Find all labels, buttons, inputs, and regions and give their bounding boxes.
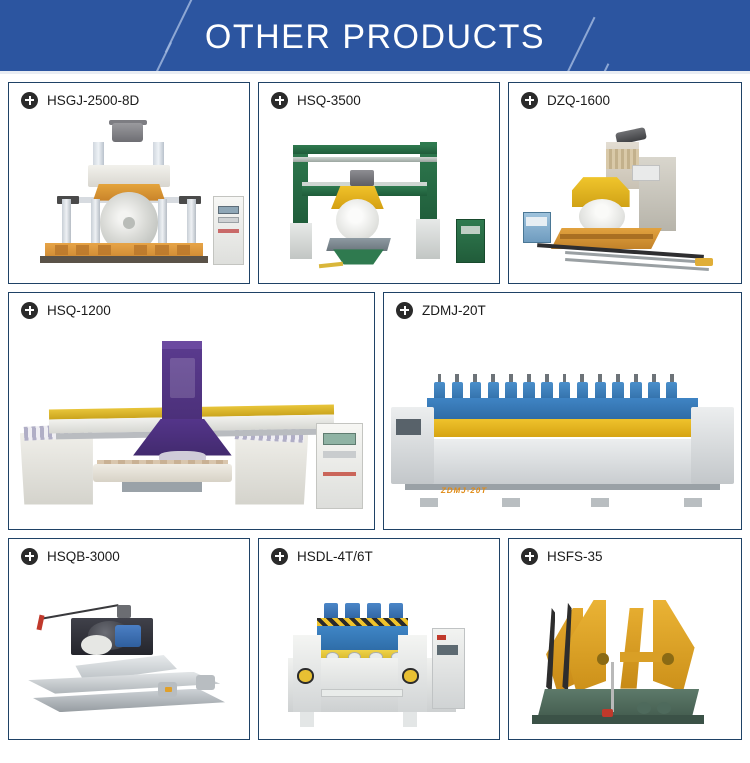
product-image-hsdl-4t-6t [259, 571, 499, 739]
product-card-hsq-3500[interactable]: HSQ-3500 [258, 82, 500, 284]
product-image-hsq-1200 [9, 325, 374, 529]
plus-circle-icon[interactable] [21, 548, 38, 565]
product-image-hsgj-2500-8d [9, 115, 249, 283]
plus-circle-icon[interactable] [21, 92, 38, 109]
product-label: DZQ-1600 [547, 93, 610, 108]
product-card-header: ZDMJ-20T [384, 293, 486, 327]
product-card-hsgj-2500-8d[interactable]: HSGJ-2500-8D [8, 82, 250, 284]
product-label: ZDMJ-20T [422, 303, 486, 318]
product-card-header: HSFS-35 [509, 539, 603, 573]
product-card-header: HSDL-4T/6T [259, 539, 373, 573]
other-products-page: OTHER PRODUCTS HSGJ-2500-8D [0, 0, 750, 763]
product-card-header: HSQB-3000 [9, 539, 120, 573]
product-card-hsq-1200[interactable]: HSQ-1200 [8, 292, 375, 530]
page-title: OTHER PRODUCTS [0, 0, 750, 74]
product-card-dzq-1600[interactable]: DZQ-1600 [508, 82, 742, 284]
product-image-dzq-1600 [509, 115, 741, 283]
product-label: HSFS-35 [547, 549, 603, 564]
product-card-hsfs-35[interactable]: HSFS-35 [508, 538, 742, 740]
plus-circle-icon[interactable] [21, 302, 38, 319]
product-card-header: DZQ-1600 [509, 83, 610, 117]
product-label: HSQ-3500 [297, 93, 361, 108]
product-image-zdmj-20t: ZDMJ-20T [384, 325, 741, 529]
page-header-banner: OTHER PRODUCTS [0, 0, 750, 74]
plus-circle-icon[interactable] [521, 548, 538, 565]
product-label: HSQ-1200 [47, 303, 111, 318]
product-card-header: HSGJ-2500-8D [9, 83, 139, 117]
product-card-header: HSQ-1200 [9, 293, 111, 327]
plus-circle-icon[interactable] [396, 302, 413, 319]
plus-circle-icon[interactable] [271, 548, 288, 565]
plus-circle-icon[interactable] [271, 92, 288, 109]
product-image-hsqb-3000 [9, 571, 249, 739]
product-image-hsq-3500 [259, 115, 499, 283]
product-image-hsfs-35 [509, 571, 741, 739]
product-label: HSGJ-2500-8D [47, 93, 139, 108]
product-card-hsqb-3000[interactable]: HSQB-3000 [8, 538, 250, 740]
plus-circle-icon[interactable] [521, 92, 538, 109]
product-card-header: HSQ-3500 [259, 83, 361, 117]
product-label: HSQB-3000 [47, 549, 120, 564]
product-grid: HSGJ-2500-8D [0, 74, 750, 763]
machine-decal: ZDMJ-20T [440, 486, 488, 495]
product-label: HSDL-4T/6T [297, 549, 373, 564]
product-card-zdmj-20t[interactable]: ZDMJ-20T [383, 292, 742, 530]
product-card-hsdl-4t-6t[interactable]: HSDL-4T/6T [258, 538, 500, 740]
